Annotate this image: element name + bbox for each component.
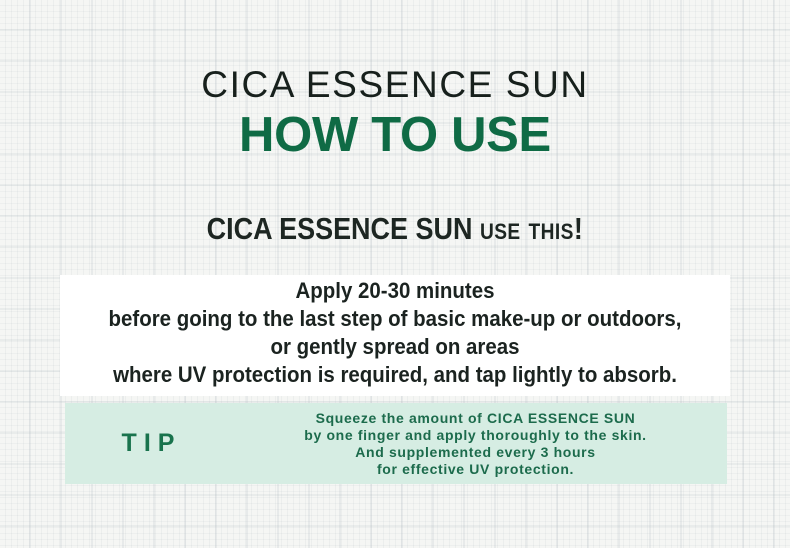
subtitle-action: Use this! [480,211,583,246]
instruction-line: Apply 20-30 minutes [83,277,706,305]
tip-callout-box: TIP Squeeze the amount of CICA ESSENCE S… [65,403,727,484]
subtitle-product: CICA ESSENCE SUN [207,211,473,246]
subtitle: CICA ESSENCE SUN Use this! [51,208,738,250]
tip-line: And supplemented every 3 hours [240,444,711,461]
headline-block: CICA ESSENCE SUN HOW TO USE [0,62,790,163]
instruction-line: where UV protection is required, and tap… [83,361,706,389]
instructions-block: Apply 20-30 minutes before going to the … [60,277,730,389]
tip-text-block: Squeeze the amount of CICA ESSENCE SUN b… [240,410,727,478]
promo-page: CICA ESSENCE SUN HOW TO USE CICA ESSENCE… [0,0,790,548]
instruction-line: before going to the last step of basic m… [83,305,706,333]
page-title-how-to-use: HOW TO USE [0,107,790,163]
tip-line: Squeeze the amount of CICA ESSENCE SUN [240,410,711,427]
page-title-product: CICA ESSENCE SUN [0,62,790,108]
tip-line: by one finger and apply thoroughly to th… [240,427,711,444]
instruction-line: or gently spread on areas [83,333,706,361]
tip-label: TIP [65,429,240,458]
tip-line: for effective UV protection. [240,461,711,478]
